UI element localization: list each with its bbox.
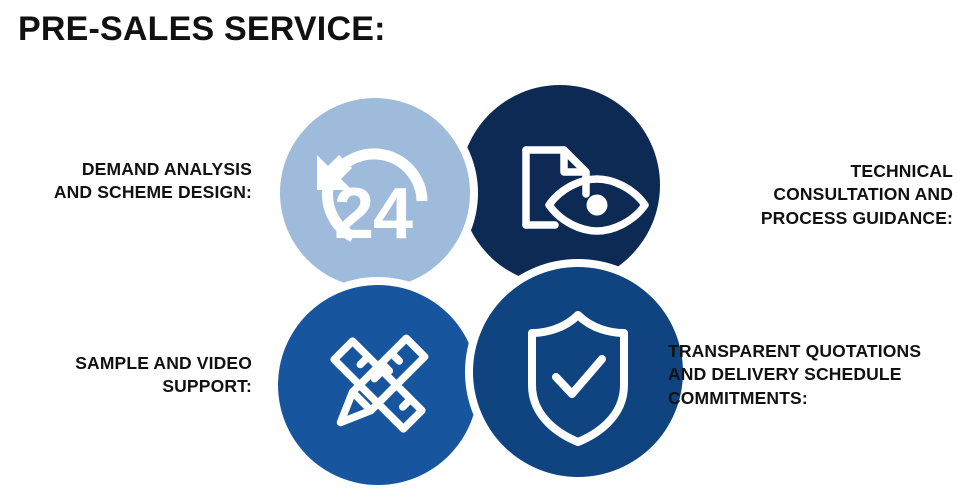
label-line: TRANSPARENT QUOTATIONS bbox=[668, 340, 960, 363]
circle-technical-consultation[interactable] bbox=[460, 85, 660, 285]
page-title: PRE-SALES SERVICE: bbox=[18, 10, 386, 49]
circle-demand-analysis[interactable]: 24 bbox=[280, 98, 470, 288]
label-line: PROCESS GUIDANCE: bbox=[728, 207, 953, 230]
label-line: AND SCHEME DESIGN: bbox=[0, 181, 252, 204]
circle-transparent-quotations[interactable] bbox=[473, 267, 683, 477]
venn-circle-cluster: 24 bbox=[255, 70, 695, 498]
label-line: CONSULTATION AND bbox=[728, 183, 953, 206]
label-line: SUPPORT: bbox=[0, 375, 252, 398]
label-line: DEMAND ANALYSIS bbox=[0, 158, 252, 181]
circle-sample-video-support[interactable] bbox=[278, 285, 478, 485]
label-transparent-quotations: TRANSPARENT QUOTATIONS AND DELIVERY SCHE… bbox=[668, 340, 960, 410]
label-demand-analysis: DEMAND ANALYSIS AND SCHEME DESIGN: bbox=[0, 158, 252, 205]
label-technical-consultation: TECHNICAL CONSULTATION AND PROCESS GUIDA… bbox=[728, 160, 953, 230]
label-sample-video-support: SAMPLE AND VIDEO SUPPORT: bbox=[0, 352, 252, 399]
label-line: SAMPLE AND VIDEO bbox=[0, 352, 252, 375]
label-line: TECHNICAL bbox=[728, 160, 953, 183]
label-line: COMMITMENTS: bbox=[668, 387, 960, 410]
icon-24-text: 24 bbox=[334, 174, 413, 254]
label-line: AND DELIVERY SCHEDULE bbox=[668, 363, 960, 386]
